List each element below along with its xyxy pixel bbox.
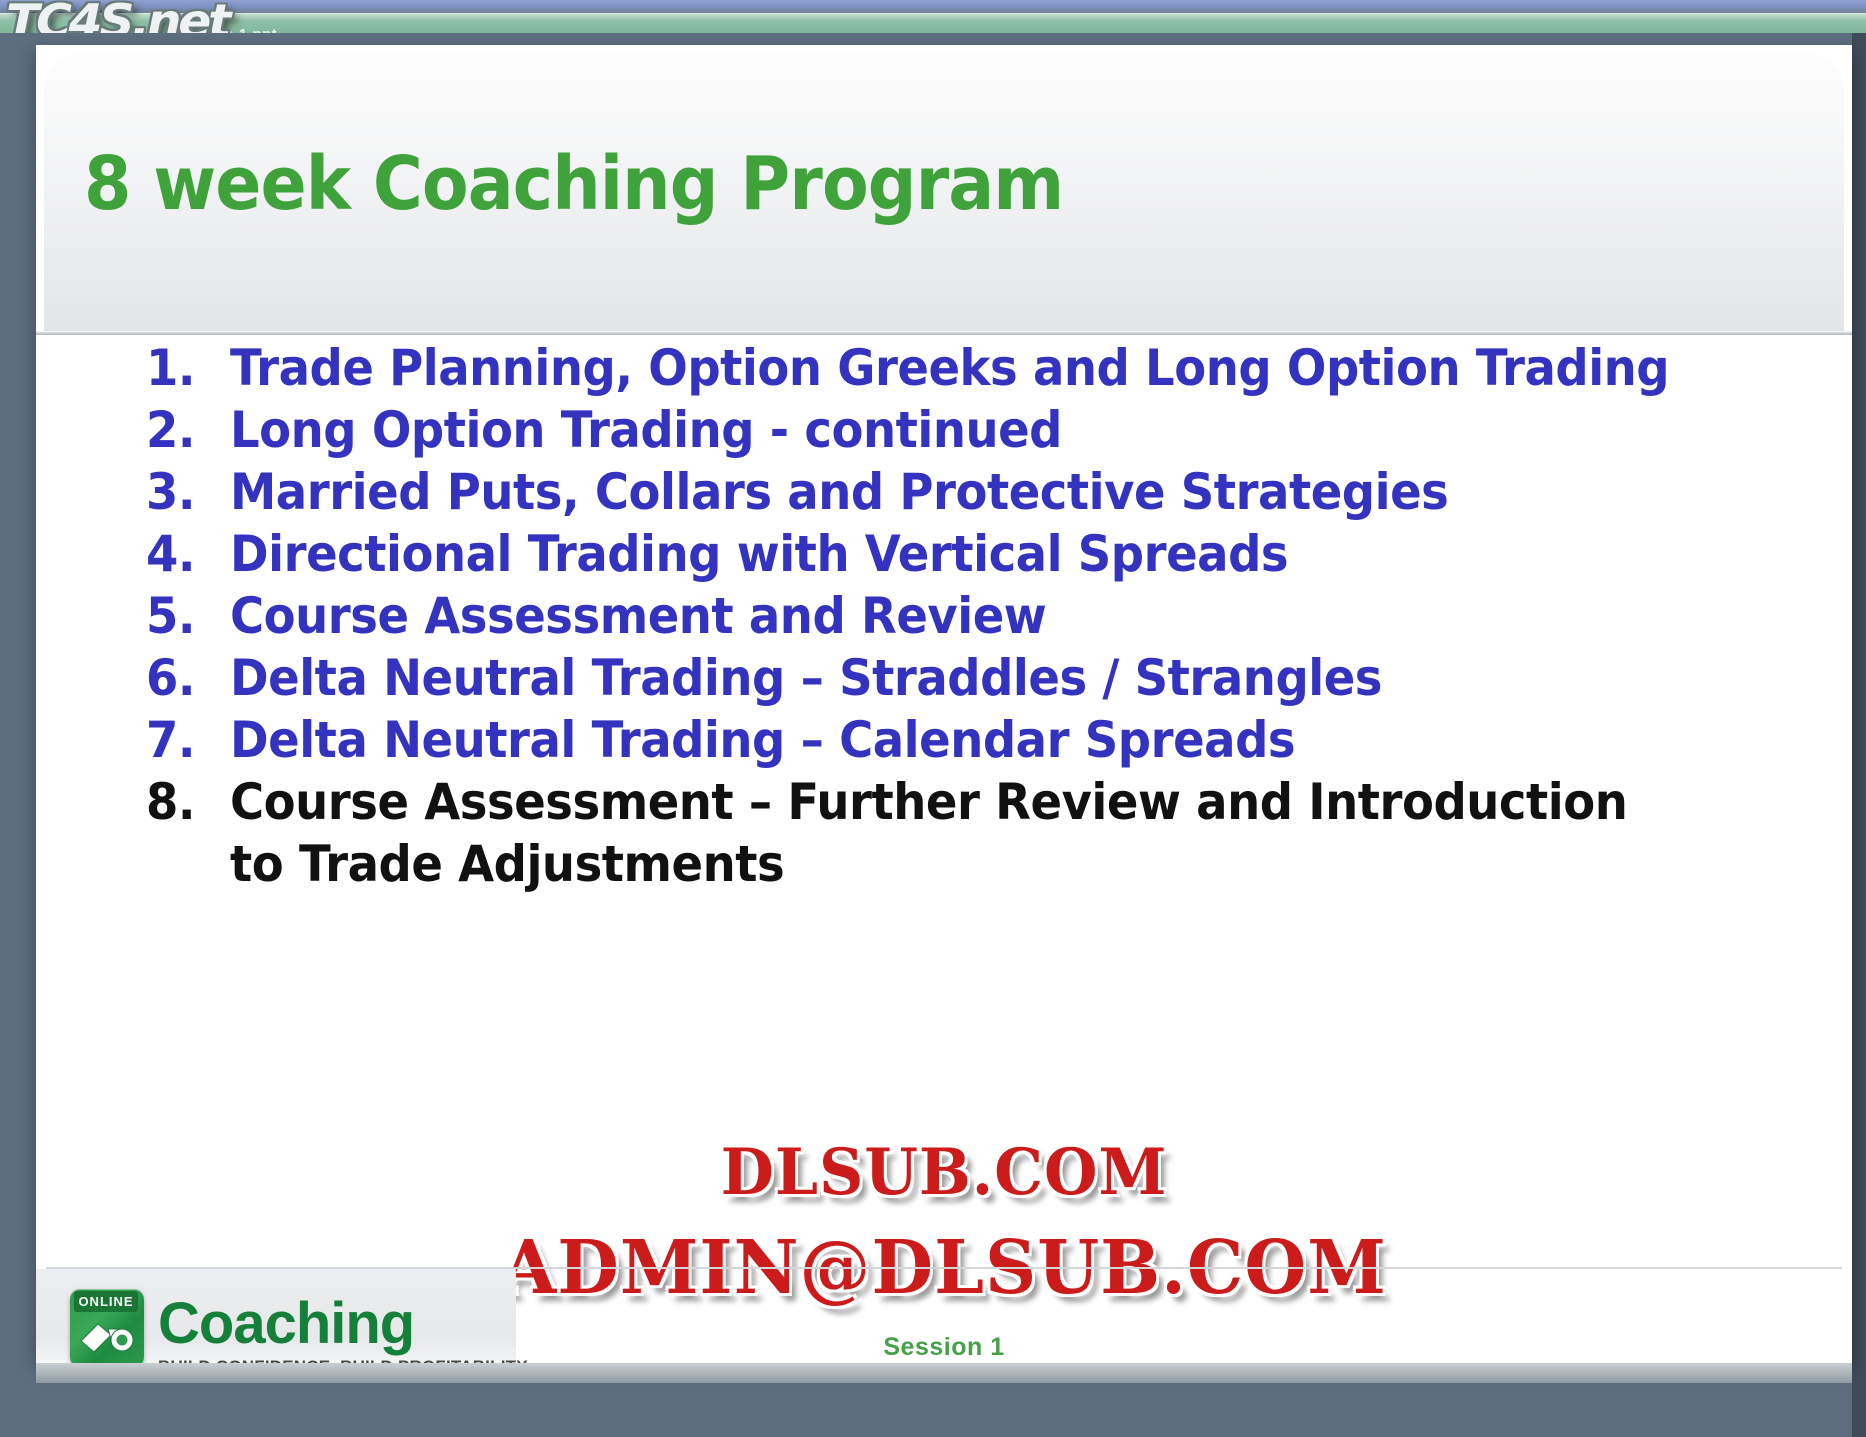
logo-online-badge: ONLINE [74, 1291, 138, 1312]
window-titlebar-blue-strip [0, 0, 1866, 13]
agenda-item: 8.Course Assessment – Further Review and… [146, 771, 1786, 895]
powerpoint-window: Coaching - Session 1.ppt TC4S.net 8 week… [0, 0, 1866, 1437]
window-titlebar[interactable]: Coaching - Session 1.ppt [0, 13, 1866, 34]
agenda-item: 2.Long Option Trading - continued [146, 399, 1786, 461]
slide-header-divider [36, 331, 1852, 335]
agenda-item-label: Delta Neutral Trading – Straddles / Stra… [230, 647, 1677, 709]
agenda-item-number: 8. [146, 771, 224, 833]
agenda-item-label: Directional Trading with Vertical Spread… [230, 523, 1677, 585]
agenda-item: 1.Trade Planning, Option Greeks and Long… [146, 337, 1786, 399]
agenda-item-label: Course Assessment and Review [230, 585, 1677, 647]
agenda-item-number: 5. [146, 585, 224, 647]
watermark-domain-text: DLSUB.COM [72, 1135, 1815, 1210]
slide-session-label: Session 1 [36, 1333, 1852, 1362]
agenda-item-label: Delta Neutral Trading – Calendar Spreads [230, 709, 1677, 771]
presentation-slide[interactable]: 8 week Coaching Program 1.Trade Planning… [36, 45, 1852, 1363]
agenda-item: 7.Delta Neutral Trading – Calendar Sprea… [146, 709, 1786, 771]
agenda-item-label: Course Assessment – Further Review and I… [230, 771, 1677, 895]
slide-stage: 8 week Coaching Program 1.Trade Planning… [0, 33, 1866, 1437]
agenda-item-number: 7. [146, 709, 224, 771]
agenda-item: 4.Directional Trading with Vertical Spre… [146, 523, 1786, 585]
agenda-item-number: 1. [146, 337, 224, 399]
agenda-item-number: 6. [146, 647, 224, 709]
agenda-item: 3.Married Puts, Collars and Protective S… [146, 461, 1786, 523]
agenda-item-label: Trade Planning, Option Greeks and Long O… [230, 337, 1677, 399]
agenda-list: 1.Trade Planning, Option Greeks and Long… [146, 337, 1786, 895]
slide-title: 8 week Coaching Program [84, 141, 1063, 227]
agenda-item-number: 2. [146, 399, 224, 461]
agenda-item-label: Married Puts, Collars and Protective Str… [230, 461, 1677, 523]
agenda-item: 5.Course Assessment and Review [146, 585, 1786, 647]
slide-bottom-edge [36, 1363, 1852, 1383]
agenda-item-number: 3. [146, 461, 224, 523]
agenda-item-number: 4. [146, 523, 224, 585]
agenda-item-label: Long Option Trading - continued [230, 399, 1677, 461]
agenda-item: 6.Delta Neutral Trading – Straddles / St… [146, 647, 1786, 709]
